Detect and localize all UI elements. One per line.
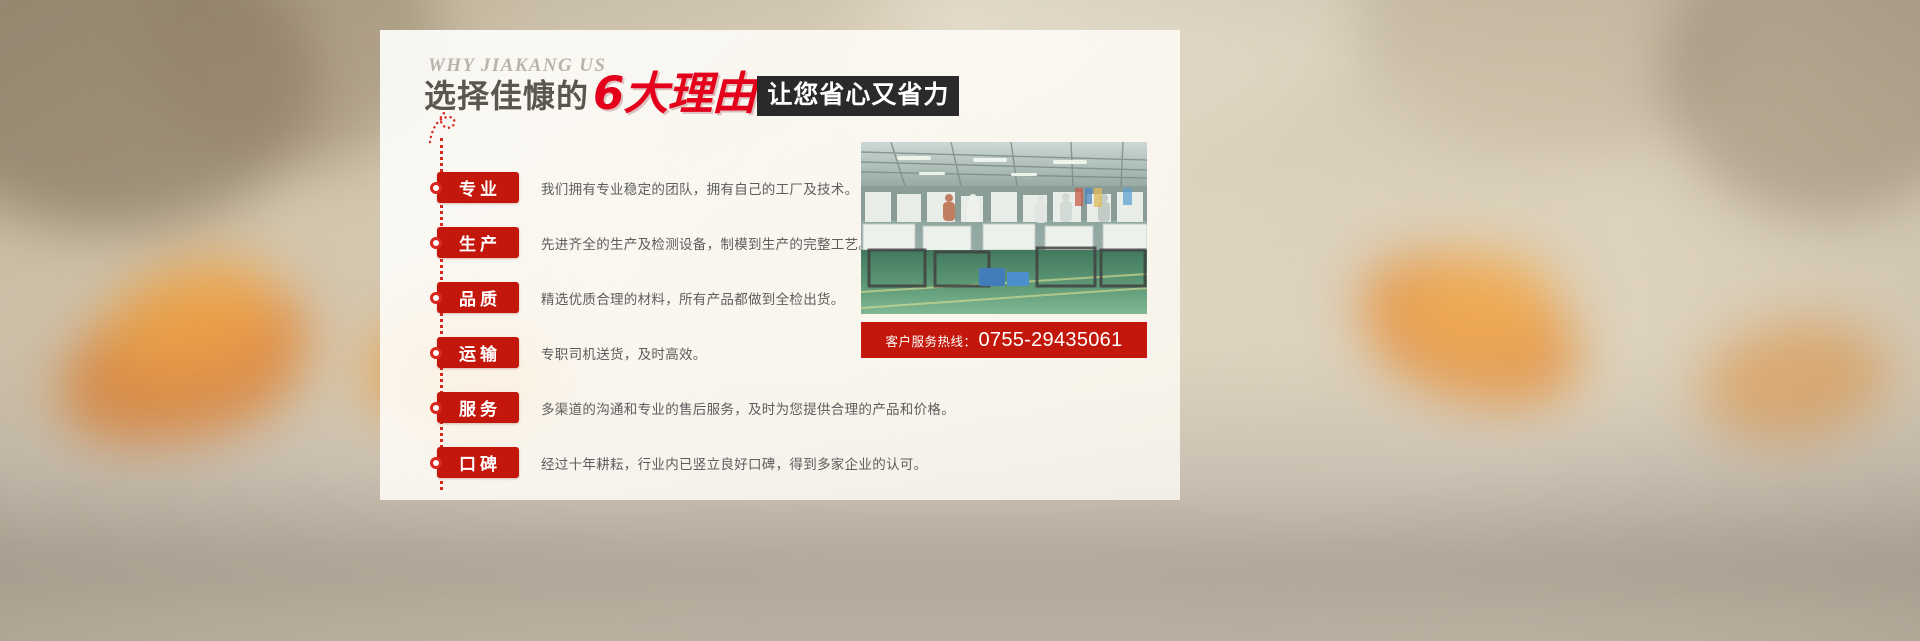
list-item[interactable]: 服务 多渠道的沟通和专业的售后服务，及时为您提供合理的产品和价格。 xyxy=(437,380,1137,435)
title-main-row: 选择佳慷的 6大理由 让您省心又省力 xyxy=(424,72,959,116)
list-item[interactable]: 口碑 经过十年耕耘，行业内已竖立良好口碑，得到多家企业的认可。 xyxy=(437,435,1137,490)
reason-desc: 先进齐全的生产及检测设备，制模到生产的完整工艺。 xyxy=(541,233,872,253)
bullet-node-icon xyxy=(430,402,442,414)
title-highlight: 6大理由 xyxy=(593,72,755,116)
reason-tag: 专业 xyxy=(437,172,519,203)
bullet-node-icon xyxy=(430,347,442,359)
bullet-node-icon xyxy=(430,457,442,469)
reason-tag: 生产 xyxy=(437,227,519,258)
reason-desc: 我们拥有专业稳定的团队，拥有自己的工厂及技术。 xyxy=(541,178,858,198)
hotline-banner[interactable]: 客户服务热线： 0755-29435061 xyxy=(861,322,1147,358)
bullet-node-icon xyxy=(430,182,442,194)
hotline-number: 0755-29435061 xyxy=(978,329,1122,352)
factory-photo-illustration xyxy=(861,142,1147,314)
reason-tag: 口碑 xyxy=(437,447,519,478)
hotline-label: 客户服务热线： xyxy=(885,331,976,350)
reason-desc: 专职司机送货，及时高效。 xyxy=(541,343,707,363)
reason-tag: 运输 xyxy=(437,337,519,368)
reason-desc: 精选优质合理的材料，所有产品都做到全检出货。 xyxy=(541,288,845,308)
title-tail-banner: 让您省心又省力 xyxy=(757,76,959,116)
reason-desc: 经过十年耕耘，行业内已竖立良好口碑，得到多家企业的认可。 xyxy=(541,453,927,473)
reason-tag: 服务 xyxy=(437,392,519,423)
factory-photo xyxy=(861,142,1147,314)
connector-curl-icon xyxy=(428,110,462,144)
bullet-node-icon xyxy=(430,292,442,304)
reason-desc: 多渠道的沟通和专业的售后服务，及时为您提供合理的产品和价格。 xyxy=(541,398,955,418)
bullet-node-icon xyxy=(430,237,442,249)
reason-tag: 品质 xyxy=(437,282,519,313)
banner-stage: WHY JIAKANG US 选择佳慷的 6大理由 让您省心又省力 专业 我们拥… xyxy=(0,0,1920,641)
